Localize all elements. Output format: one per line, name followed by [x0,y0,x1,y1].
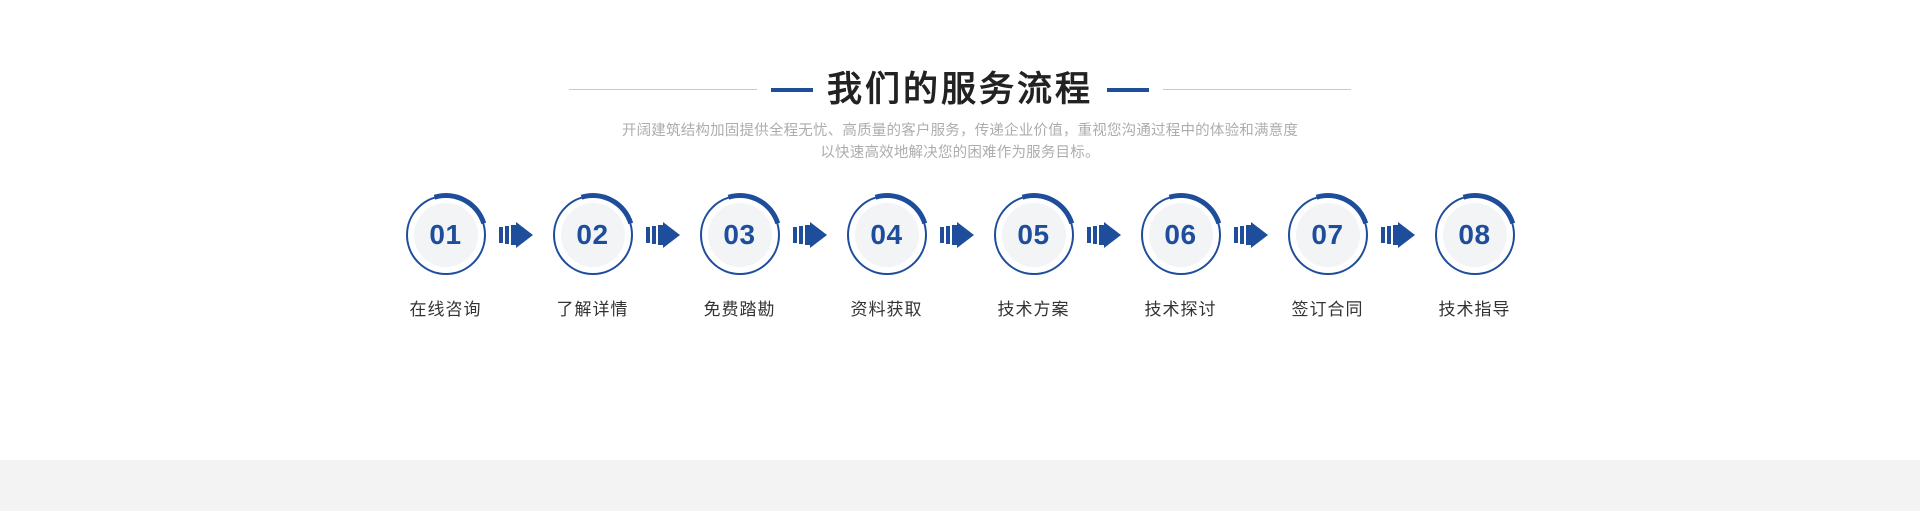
step-circle: 06 [1141,195,1221,275]
heading-rule-right-thin [1163,89,1351,90]
step-disc: 06 [1149,203,1213,267]
process-step[interactable]: 06技术探讨 [1131,195,1230,320]
step-circle: 05 [994,195,1074,275]
step-number: 04 [870,221,902,249]
step-disc: 04 [855,203,919,267]
step-disc: 05 [1002,203,1066,267]
step-disc: 02 [561,203,625,267]
arrow-right-icon [495,195,543,275]
process-step[interactable]: 03免费踏勘 [690,195,789,320]
bottom-band [0,460,1920,511]
step-label: 免费踏勘 [704,295,776,320]
step-number: 01 [429,221,461,249]
process-step[interactable]: 04资料获取 [837,195,936,320]
page-title: 我们的服务流程 [827,72,1093,107]
process-step[interactable]: 01在线咨询 [396,195,495,320]
step-circle: 08 [1435,195,1515,275]
step-label: 了解详情 [557,295,629,320]
step-disc: 07 [1296,203,1360,267]
arrow-right-icon [1230,195,1278,275]
step-disc: 01 [414,203,478,267]
step-label: 技术方案 [998,295,1070,320]
step-label: 在线咨询 [410,295,482,320]
step-disc: 08 [1443,203,1507,267]
step-label: 技术探讨 [1145,295,1217,320]
arrow-right-icon [1377,195,1425,275]
process-step[interactable]: 05技术方案 [984,195,1083,320]
step-number: 07 [1311,221,1343,249]
step-number: 05 [1017,221,1049,249]
step-circle: 01 [406,195,486,275]
step-label: 资料获取 [851,295,923,320]
subtitle-line-1: 开阔建筑结构加固提供全程无忧、高质量的客户服务，传递企业价值，重视您沟通过程中的… [0,120,1920,142]
heading-rule-left-thin [569,89,757,90]
step-number: 06 [1164,221,1196,249]
step-disc: 03 [708,203,772,267]
process-step[interactable]: 02了解详情 [543,195,642,320]
heading-rule-left-accent [771,88,813,92]
process-step[interactable]: 07签订合同 [1278,195,1377,320]
step-number: 03 [723,221,755,249]
step-number: 02 [576,221,608,249]
arrow-right-icon [936,195,984,275]
section-heading: 我们的服务流程 [0,72,1920,107]
section-subtitle: 开阔建筑结构加固提供全程无忧、高质量的客户服务，传递企业价值，重视您沟通过程中的… [0,120,1920,164]
service-process-section: 我们的服务流程 开阔建筑结构加固提供全程无忧、高质量的客户服务，传递企业价值，重… [0,0,1920,511]
step-circle: 07 [1288,195,1368,275]
process-steps: 01在线咨询02了解详情03免费踏勘04资料获取05技术方案06技术探讨07签订… [0,195,1920,320]
step-circle: 03 [700,195,780,275]
step-number: 08 [1458,221,1490,249]
arrow-right-icon [789,195,837,275]
step-label: 技术指导 [1439,295,1511,320]
heading-rule-right-accent [1107,88,1149,92]
subtitle-line-2: 以快速高效地解决您的困难作为服务目标。 [0,142,1920,164]
step-label: 签订合同 [1292,295,1364,320]
arrow-right-icon [642,195,690,275]
step-circle: 04 [847,195,927,275]
step-circle: 02 [553,195,633,275]
process-step[interactable]: 08技术指导 [1425,195,1524,320]
arrow-right-icon [1083,195,1131,275]
